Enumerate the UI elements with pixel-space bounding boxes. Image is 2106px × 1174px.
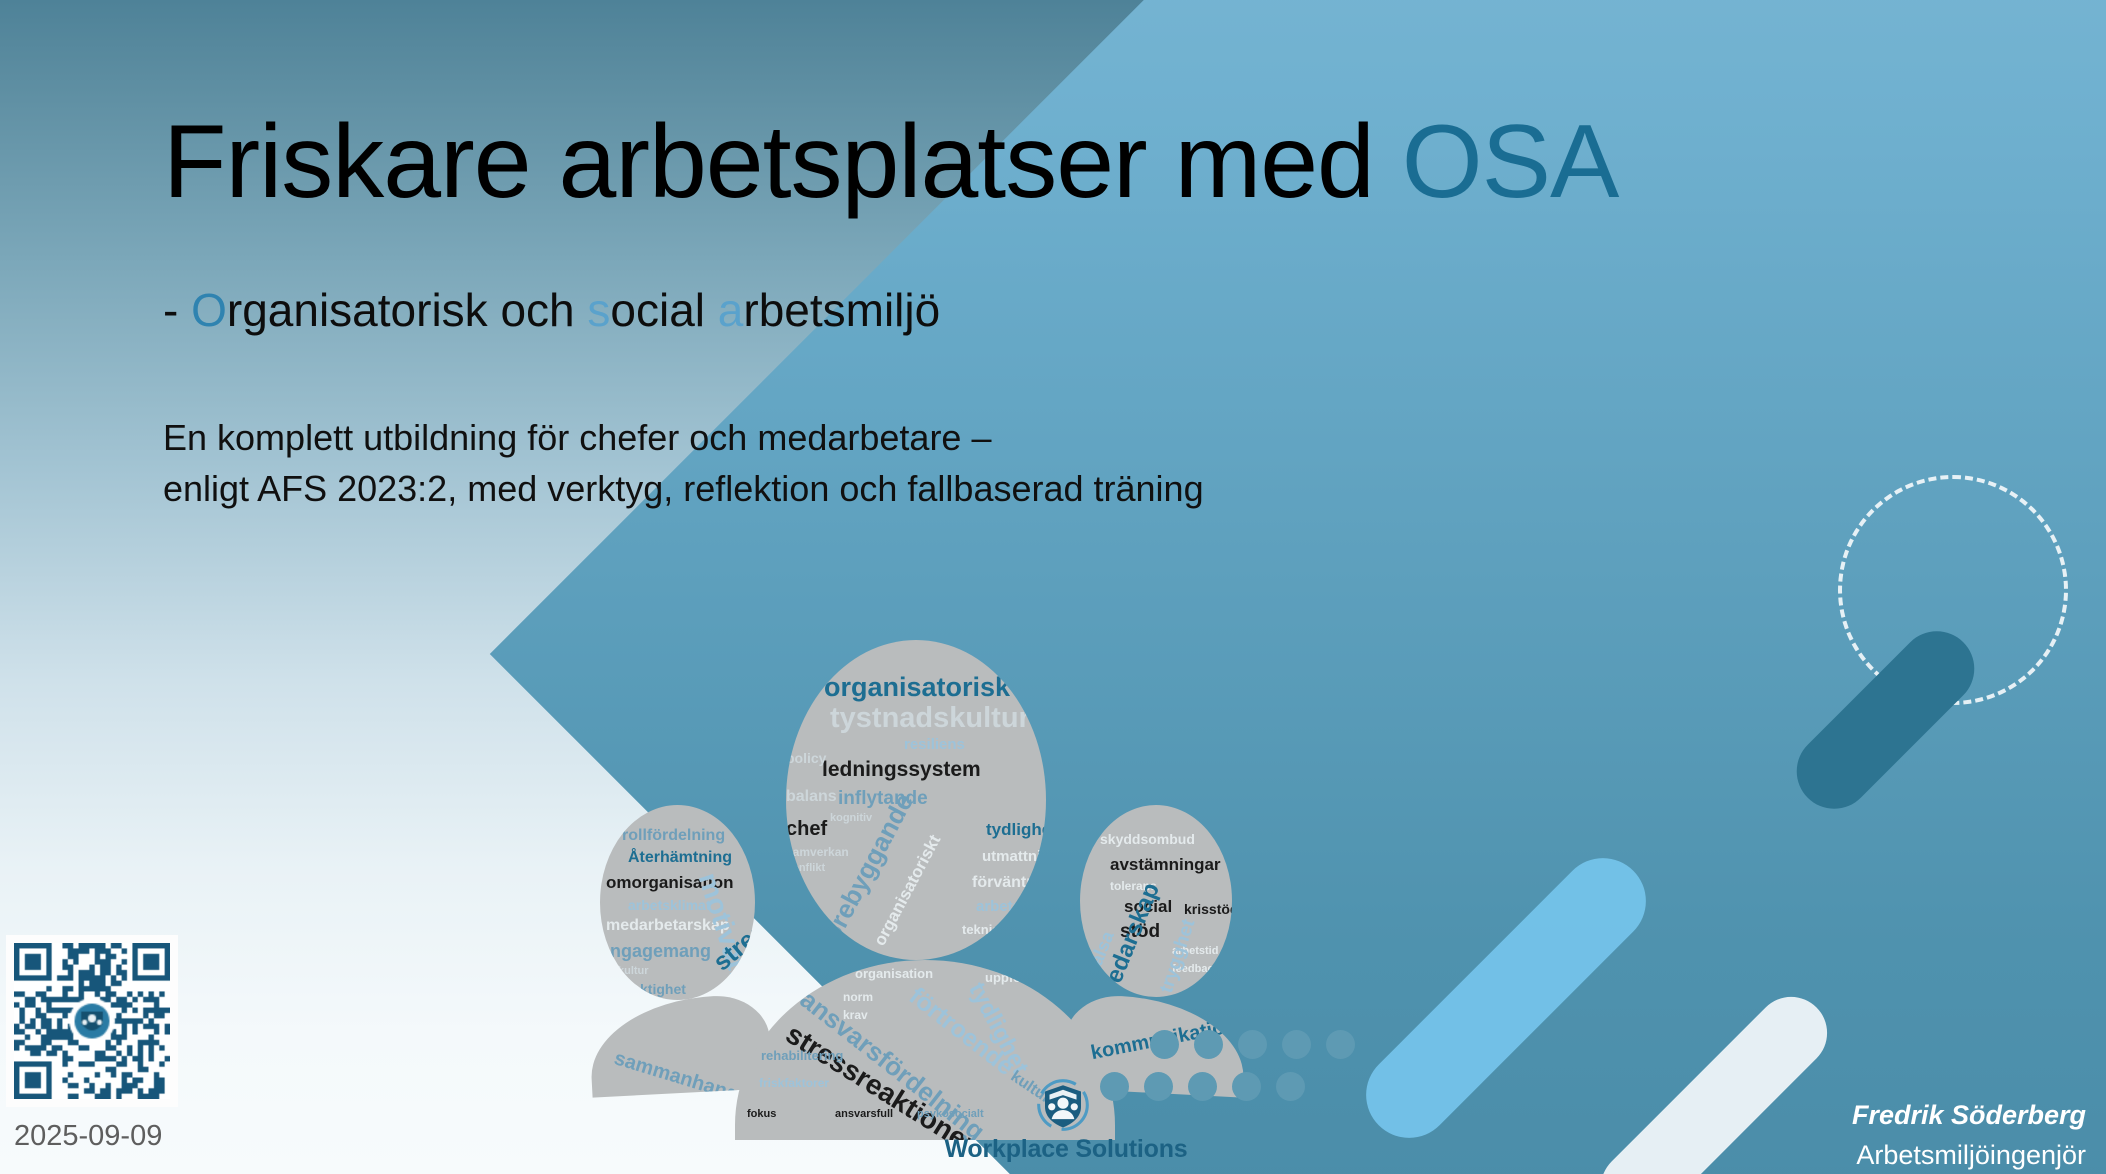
slide-subtitle: - Organisatorisk och social arbetsmiljö bbox=[163, 283, 940, 337]
word-cloud-word: förväntningar bbox=[972, 874, 1046, 892]
word-cloud-word: teknisk bbox=[962, 922, 1007, 937]
word-cloud-word: sammanhang bbox=[611, 1047, 741, 1097]
subtitle-text-1: rganisatorisk och bbox=[227, 284, 588, 336]
decorative-dot bbox=[1188, 1072, 1217, 1101]
decorative-dot bbox=[1326, 1030, 1355, 1059]
logo-wordmark: Workplace Solutions bbox=[926, 1135, 1206, 1164]
slide-title-accent: OSA bbox=[1402, 104, 1619, 220]
qr-code-canvas bbox=[14, 943, 170, 1099]
word-cloud-people-graphic: rollfördelningÅterhämtningomorganisation… bbox=[580, 620, 1280, 1020]
word-cloud-word: arbete bbox=[986, 952, 1022, 960]
word-cloud-word: krisstöd bbox=[1184, 901, 1232, 917]
word-cloud-word: kultur bbox=[618, 965, 649, 977]
word-cloud-word: engagemang bbox=[600, 941, 711, 962]
slide-date: 2025-09-09 bbox=[14, 1120, 162, 1153]
word-cloud-word: organisation bbox=[855, 966, 933, 981]
word-cloud-word: Återhämtning bbox=[628, 849, 732, 867]
shield-people-icon bbox=[1036, 1078, 1090, 1132]
word-cloud-word: rehabilitering bbox=[761, 1048, 843, 1063]
word-cloud-word: avstämningar bbox=[1110, 855, 1221, 875]
word-cloud-word: resiliens bbox=[904, 736, 965, 753]
word-cloud-word: krav bbox=[1004, 922, 1046, 948]
subtitle-letter-s: s bbox=[587, 284, 610, 336]
decorative-dot bbox=[1282, 1030, 1311, 1059]
presenter-name: Fredrik Söderberg bbox=[1852, 1100, 2086, 1131]
decorative-dot bbox=[1150, 1030, 1179, 1059]
decorative-dot bbox=[1238, 1030, 1267, 1059]
slide-lead-paragraph: En komplett utbildning för chefer och me… bbox=[163, 412, 1204, 514]
word-cloud-word: delaktighet bbox=[612, 981, 686, 997]
word-cloud-word: ledningssystem bbox=[822, 758, 981, 782]
word-cloud-word: tydlighet bbox=[986, 820, 1046, 840]
word-cloud-word: norm bbox=[843, 990, 873, 1004]
word-cloud-word: utmattning bbox=[982, 848, 1046, 865]
decorative-dot bbox=[1276, 1072, 1305, 1101]
subtitle-letter-a: a bbox=[718, 284, 744, 336]
word-cloud-head-center: organisatorisktystnadskulturresiliensled… bbox=[786, 640, 1046, 960]
word-cloud-word: skyddsombud bbox=[1100, 831, 1195, 847]
word-cloud-word: chef bbox=[786, 818, 827, 841]
decorative-dot bbox=[1100, 1072, 1129, 1101]
lead-line-2: enligt AFS 2023:2, med verktyg, reflekti… bbox=[163, 463, 1204, 514]
presentation-slide: Friskare arbetsplatser med OSA - Organis… bbox=[0, 0, 2106, 1174]
word-cloud-word: psykosocialt bbox=[917, 1108, 984, 1120]
word-cloud-word: uppföljning bbox=[985, 970, 1056, 985]
subtitle-text-3: rbetsmiljö bbox=[743, 284, 940, 336]
word-cloud-word: policy bbox=[786, 750, 826, 766]
word-cloud-word: kognitiv bbox=[830, 812, 872, 824]
slide-title-plain: Friskare arbetsplatser med bbox=[163, 104, 1402, 220]
subtitle-dash: - bbox=[163, 284, 191, 336]
subtitle-letter-o: O bbox=[191, 284, 227, 336]
word-cloud-word: organisatorisk bbox=[824, 672, 1010, 703]
lead-line-1: En komplett utbildning för chefer och me… bbox=[163, 412, 1204, 463]
word-cloud-head-left: rollfördelningÅterhämtningomorganisation… bbox=[600, 805, 755, 1000]
decorative-dot bbox=[1232, 1072, 1261, 1101]
word-cloud-word: samverkan bbox=[786, 845, 849, 859]
decorative-dot bbox=[1144, 1072, 1173, 1101]
slide-title: Friskare arbetsplatser med OSA bbox=[163, 110, 1618, 214]
decorative-dot bbox=[1194, 1030, 1223, 1059]
word-cloud-word: rollfördelning bbox=[622, 827, 725, 845]
word-cloud-word: ansvarsfull bbox=[835, 1108, 893, 1120]
word-cloud-head-right: skyddsombudavstämningartoleranssocialkri… bbox=[1080, 805, 1232, 997]
word-cloud-word: konflikt bbox=[786, 862, 825, 874]
qr-code[interactable] bbox=[6, 935, 178, 1107]
subtitle-text-2: ocial bbox=[610, 284, 717, 336]
word-cloud-word: balans bbox=[786, 788, 837, 806]
word-cloud-word: arbetsglädje bbox=[976, 898, 1046, 915]
presenter-role: Arbetsmiljöingenjör bbox=[1856, 1140, 2086, 1171]
word-cloud-word: fokus bbox=[747, 1108, 776, 1120]
word-cloud-word: friskfaktorer bbox=[759, 1076, 829, 1090]
word-cloud-word: tystnadskultur bbox=[830, 702, 1030, 735]
